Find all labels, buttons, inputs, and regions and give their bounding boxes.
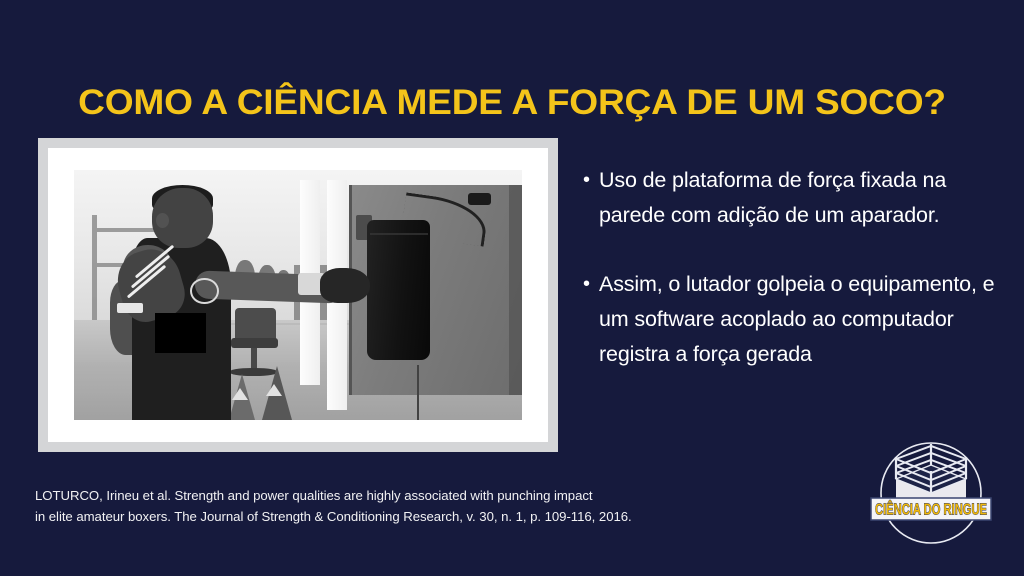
boxing-ring-icon: [896, 444, 966, 506]
bullet-marker-icon: •: [583, 163, 599, 198]
photo-traffic-cone-band: [266, 384, 282, 396]
bullet-item: • Assim, o lutador golpeia o equipamento…: [583, 267, 1001, 372]
bullet-text: Assim, o lutador golpeia o equipamento, …: [599, 267, 1001, 372]
photo-frame: [38, 138, 558, 452]
photo-glove-brand-tag: [117, 303, 144, 313]
page-title: COMO A CIÊNCIA MEDE A FORÇA DE UM SOCO?: [0, 81, 1024, 125]
bullet-list: • Uso de plataforma de força fixada na p…: [583, 163, 1001, 372]
photo-pad-seam: [370, 233, 428, 235]
photo-boxer-lead-glove: [320, 268, 369, 303]
photo-office-chair-seat: [231, 338, 278, 348]
logo-banner-text: CIÊNCIA DO RINGUE: [875, 501, 987, 519]
photo-jersey-emblem: [190, 278, 219, 305]
photo-punching-pad: [367, 220, 430, 360]
citation-line-1: LOTURCO, Irineu et al. Strength and powe…: [35, 485, 825, 506]
brand-logo: CIÊNCIA DO RINGUE: [869, 435, 993, 553]
photo-force-platform-edge: [509, 185, 522, 395]
bullet-text: Uso de plataforma de força fixada na par…: [599, 163, 1001, 233]
photo-traffic-cone-band: [232, 388, 248, 400]
slide-canvas: COMO A CIÊNCIA MEDE A FORÇA DE UM SOCO?: [0, 0, 1024, 576]
photo-matte: [48, 148, 548, 442]
photo-office-chair: [235, 308, 275, 341]
photo-boxer-ear: [156, 213, 169, 228]
bullet-item: • Uso de plataforma de força fixada na p…: [583, 163, 1001, 233]
photo-wall-anchor: [468, 193, 490, 206]
bullet-marker-icon: •: [583, 267, 599, 302]
photo-office-chair-stem: [251, 348, 256, 371]
citation-line-2: in elite amateur boxers. The Journal of …: [35, 506, 825, 527]
boxer-force-platform-photo: [74, 170, 522, 420]
photo-censor-bar: [155, 313, 207, 353]
citation-reference: LOTURCO, Irineu et al. Strength and powe…: [35, 485, 825, 527]
logo-banner: CIÊNCIA DO RINGUE: [871, 498, 991, 520]
photo-sensor-cable: [417, 365, 419, 420]
